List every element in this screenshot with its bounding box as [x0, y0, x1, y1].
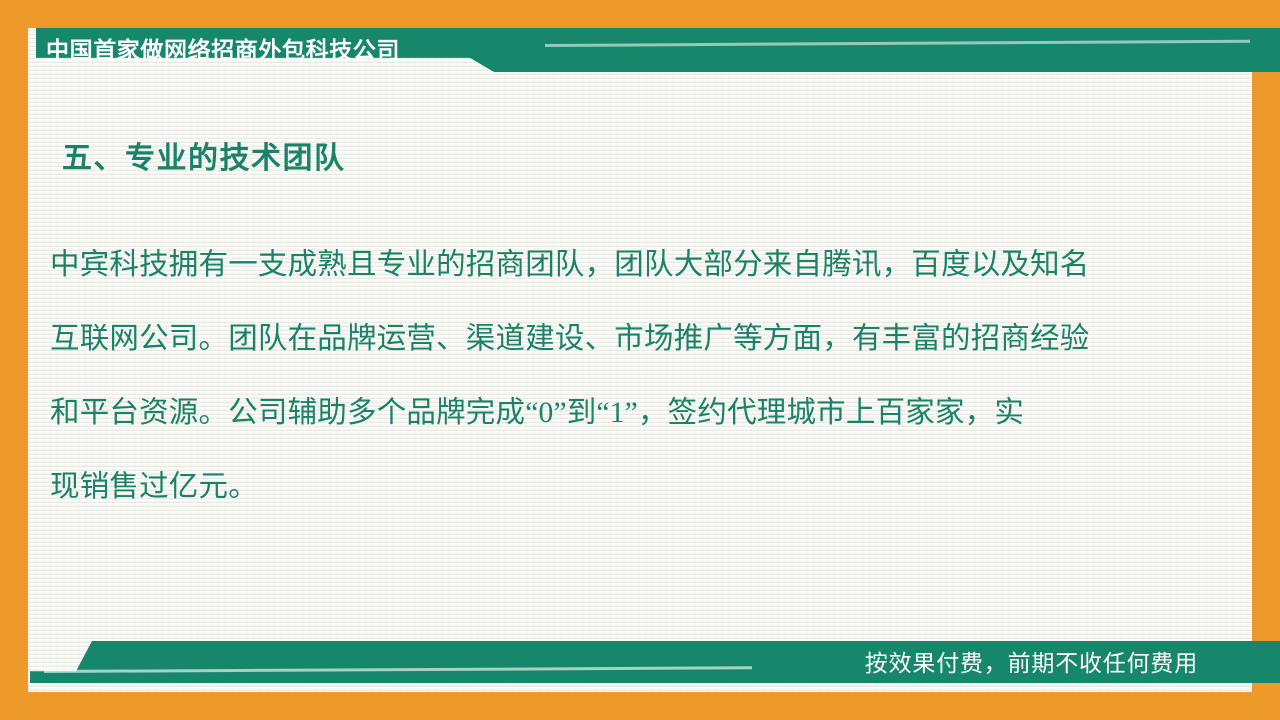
paragraph-line: 互联网公司。团队在品牌运营、渠道建设、市场推广等方面，有丰富的招商经验 [50, 302, 1182, 376]
header-title: 中国首家做网络招商外包科技公司 [46, 31, 400, 69]
paragraph-line: 和平台资源。公司辅助多个品牌完成“0”到“1”，签约代理城市上百家家，实 [50, 376, 1182, 450]
section-title: 五、专业的技术团队 [62, 133, 346, 177]
body-paragraph: 中宾科技拥有一支成熟且专业的招商团队，团队大部分来自腾讯，百度以及知名 互联网公… [50, 228, 1182, 524]
footer-tagline: 按效果付费，前期不收任何费用 [865, 646, 1198, 680]
paragraph-line: 现销售过亿元。 [50, 450, 1182, 524]
paragraph-line: 中宾科技拥有一支成熟且专业的招商团队，团队大部分来自腾讯，百度以及知名 [50, 228, 1182, 302]
presentation-slide: 中国首家做网络招商外包科技公司 五、专业的技术团队 中宾科技拥有一支成熟且专业的… [0, 0, 1280, 720]
